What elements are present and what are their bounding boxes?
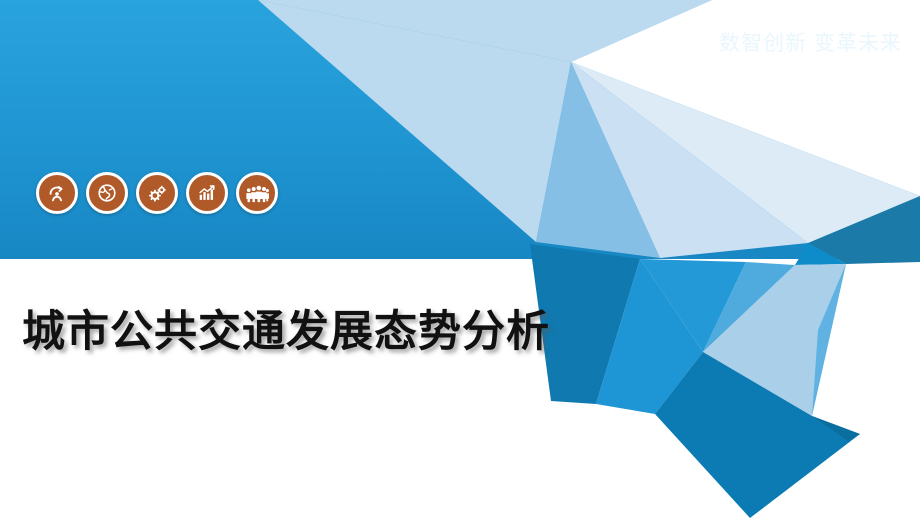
- page-title: 城市公共交通发展态势分析: [22, 297, 550, 359]
- gears-icon: [136, 172, 178, 214]
- bar-chart-growth-icon: [186, 172, 228, 214]
- polygon-pale-blue-right-fold-b: [812, 264, 846, 416]
- polygon-pale-blue-right-fold: [703, 264, 846, 416]
- polygon-sky-blue-right: [703, 262, 795, 352]
- recycle-person-icon: [36, 172, 78, 214]
- slide-canvas: 数智创新 变革未来 城市公共交通发展态势分析: [0, 0, 920, 518]
- globe-icon: [86, 172, 128, 214]
- tagline: 数智创新 变革未来: [719, 27, 902, 57]
- polygon-deep-blue-lower-tail: [655, 352, 860, 518]
- polygon-bright-blue-center-b: [640, 259, 746, 352]
- polygon-deep-blue-lower-tail-edge: [812, 416, 860, 441]
- polygon-bright-blue-center: [596, 259, 703, 414]
- icon-row: [36, 172, 278, 214]
- people-group-icon: [236, 172, 278, 214]
